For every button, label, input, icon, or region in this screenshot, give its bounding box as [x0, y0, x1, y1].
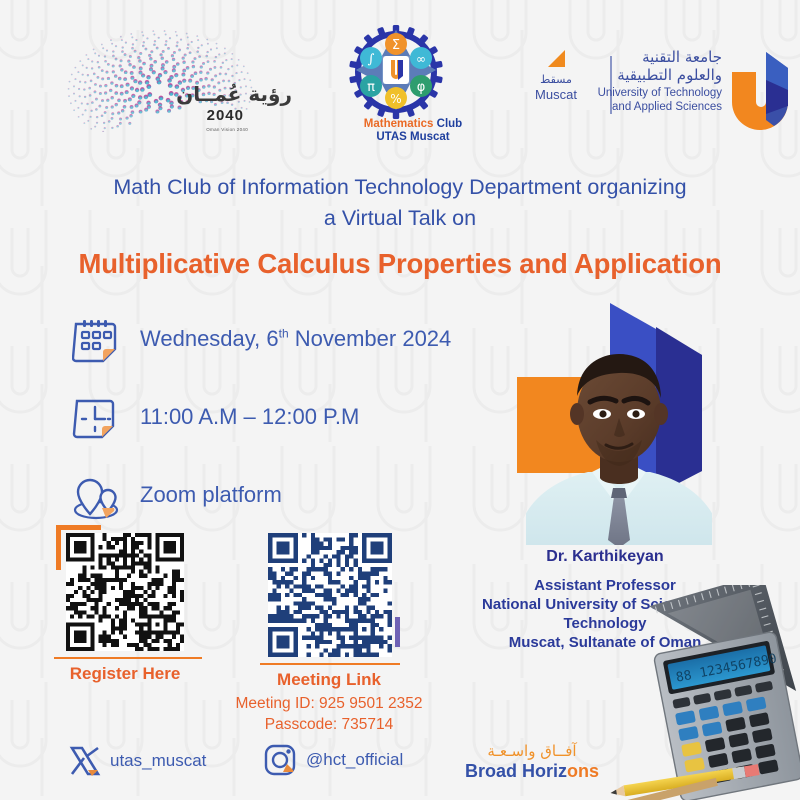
- vision-subtitle: Oman Vision 2040: [206, 127, 248, 132]
- utas-arabic-line2: والعلوم التطبيقية: [567, 66, 722, 84]
- detail-row-time: 11:00 A.M – 12:00 P.M: [72, 390, 472, 468]
- detail-text-platform: Zoom platform: [140, 482, 282, 508]
- utas-logo: جامعة التقنية والعلوم التطبيقية Universi…: [558, 48, 798, 134]
- page-headline: Math Club of Information Technology Depa…: [0, 172, 800, 234]
- social-instagram[interactable]: @hct_official: [262, 742, 403, 778]
- broad-horizons-english: Broad Horizons: [432, 761, 632, 782]
- mathclub-line2: UTAS Muscat: [338, 131, 488, 144]
- detail-text-date: Wednesday, 6th November 2024: [140, 326, 451, 352]
- svg-text:π: π: [367, 80, 375, 95]
- mathclub-line1-orange: Mathematics: [364, 118, 434, 130]
- register-qr-block[interactable]: Register Here: [66, 533, 184, 651]
- utas-u-mark-icon: [730, 50, 792, 132]
- broad-horizons-logo: آفــاق واسـعـة Broad Horizons: [432, 742, 632, 782]
- x-twitter-icon[interactable]: [68, 744, 102, 778]
- speaker-name: Dr. Karthikeyan: [440, 548, 770, 566]
- platform-main: Zoom platform: [140, 482, 282, 507]
- time-main: 11:00 A.M – 12:00 P.M: [140, 404, 359, 429]
- qr-bracket-top-left: [56, 525, 101, 570]
- svg-text:φ: φ: [417, 80, 426, 95]
- oman-vision-2040-logo: رؤية عُمــان 2040 Oman Vision 2040: [52, 28, 302, 132]
- qr-bracket-bottom-right: [369, 617, 400, 647]
- date-rest: November 2024: [289, 326, 452, 351]
- broad-horizons-accent: ons: [567, 761, 599, 781]
- headline-line-2: a Virtual Talk on: [0, 203, 800, 234]
- detail-text-time: 11:00 A.M – 12:00 P.M: [140, 404, 359, 430]
- poster-canvas: رؤية عُمــان 2040 Oman Vision 2040: [0, 0, 800, 800]
- date-superscript: th: [279, 327, 289, 341]
- svg-text:Σ: Σ: [392, 38, 400, 53]
- clock-icon: [72, 394, 124, 446]
- broad-horizons-arabic: آفــاق واسـعـة: [432, 742, 632, 760]
- calendar-icon: [72, 316, 124, 368]
- instagram-handle: @hct_official: [306, 750, 403, 770]
- talk-title: Multiplicative Calculus Properties and A…: [0, 248, 800, 280]
- mathematics-club-label: Mathematics Club UTAS Muscat: [338, 118, 488, 144]
- footer-bar: utas_muscat @hct_official آفــاق واسـعـة…: [0, 738, 800, 800]
- qr-underline: [54, 657, 202, 659]
- svg-text:%: %: [390, 92, 401, 106]
- date-main: Wednesday, 6: [140, 326, 279, 351]
- svg-text:88: 88: [675, 668, 693, 686]
- svg-text:∫: ∫: [368, 52, 375, 67]
- speaker-photo: [526, 340, 712, 545]
- utas-english-line2: and Applied Sciences: [567, 101, 722, 115]
- headline-line-1: Math Club of Information Technology Depa…: [0, 172, 800, 203]
- utas-arabic-line1: جامعة التقنية: [567, 48, 722, 66]
- broad-horizons-main: Broad Horiz: [465, 761, 567, 781]
- instagram-icon[interactable]: [262, 742, 298, 778]
- meeting-qr-label: Meeting Link: [229, 670, 429, 690]
- detail-row-date: Wednesday, 6th November 2024: [72, 312, 472, 390]
- mathematics-club-logo: Σ ∫ ∞ π φ %: [330, 22, 490, 146]
- mathclub-line1-blue: Club: [437, 118, 463, 130]
- meeting-qr-block[interactable]: Meeting Link Meeting ID: 925 9501 2352 P…: [268, 533, 392, 657]
- meeting-id: Meeting ID: 925 9501 2352: [199, 693, 459, 714]
- meeting-qr-details: Meeting ID: 925 9501 2352 Passcode: 7357…: [199, 693, 459, 735]
- utas-english-line1: University of Technology: [567, 87, 722, 101]
- logo-bar: رؤية عُمــان 2040 Oman Vision 2040: [0, 22, 800, 134]
- event-details-list: Wednesday, 6th November 2024: [72, 312, 472, 546]
- meeting-passcode: Passcode: 735714: [199, 714, 459, 735]
- vision-arabic-text: رؤية عُمــان: [176, 82, 292, 106]
- x-twitter-handle: utas_muscat: [110, 751, 206, 771]
- register-qr-label: Register Here: [25, 664, 225, 684]
- utas-text-block: جامعة التقنية والعلوم التطبيقية Universi…: [567, 48, 722, 114]
- social-x-twitter[interactable]: utas_muscat: [68, 744, 206, 778]
- location-pin-icon: [72, 472, 124, 524]
- svg-text:∞: ∞: [416, 52, 426, 66]
- vision-year: 2040: [207, 107, 244, 124]
- qr-underline: [260, 663, 400, 665]
